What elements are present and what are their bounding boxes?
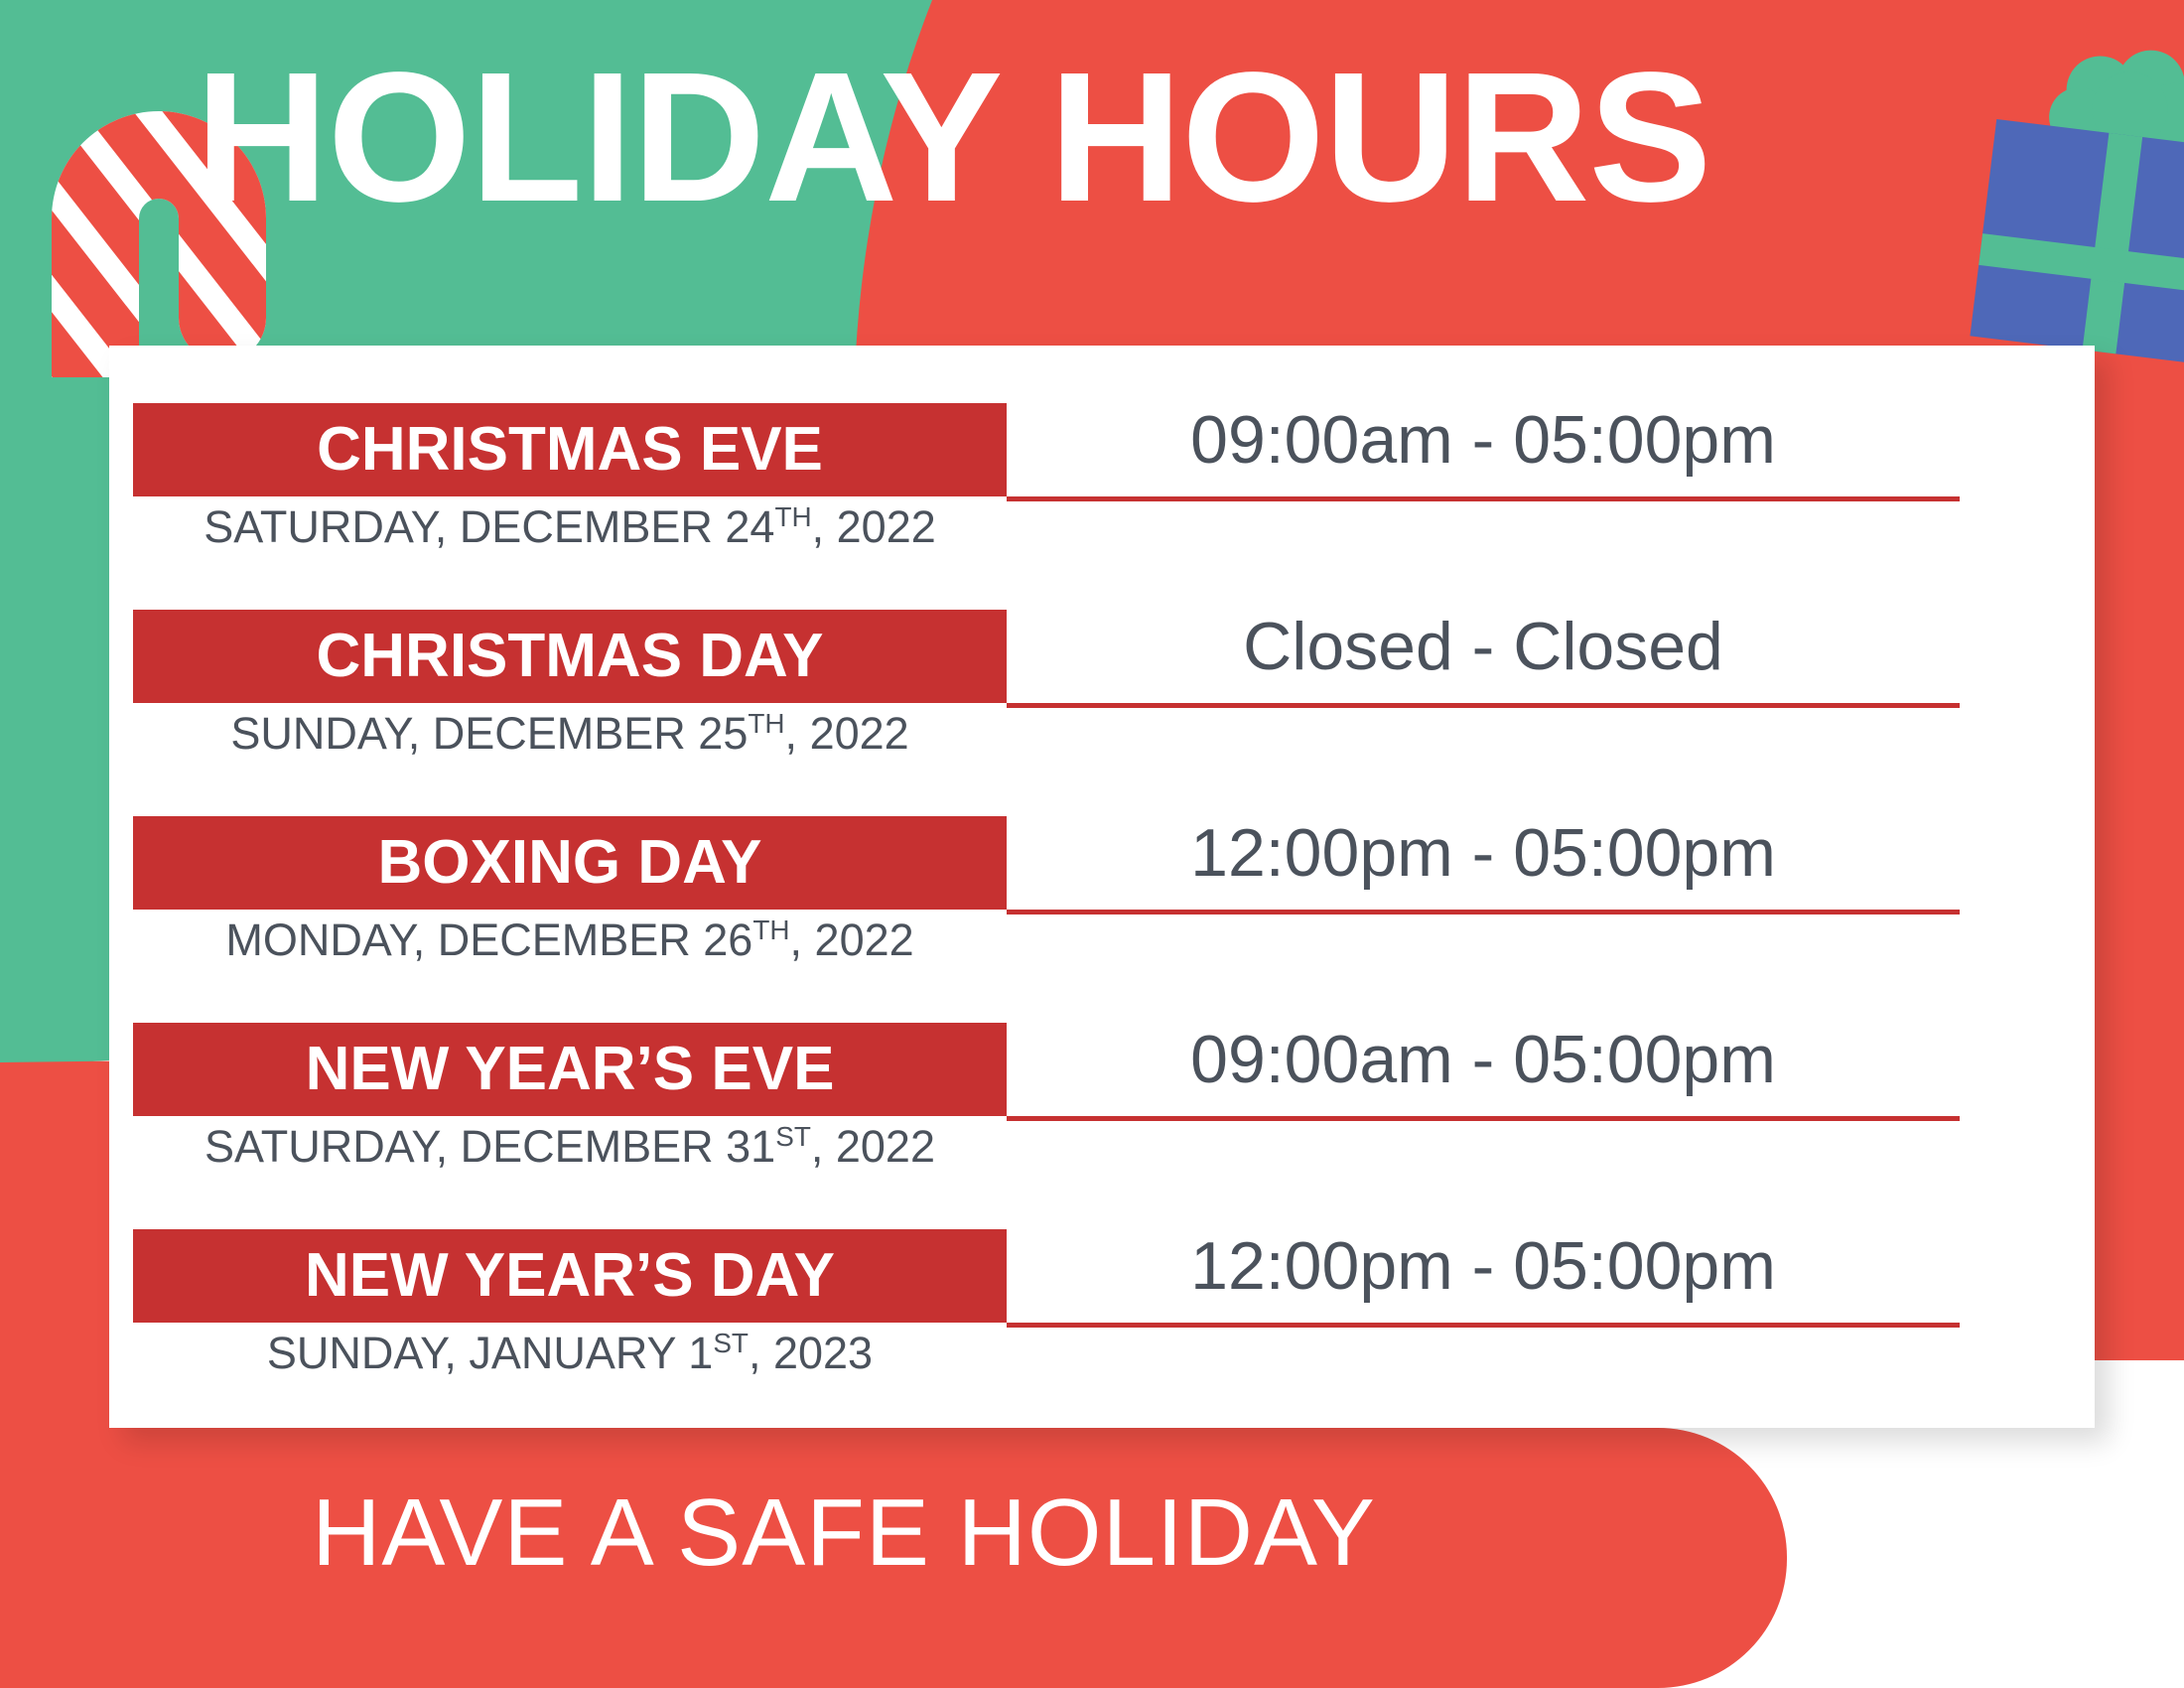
schedule-rows: CHRISTMAS EVE SATURDAY, DECEMBER 24TH, 2… (109, 346, 2095, 1428)
holiday-date-label: SATURDAY, DECEMBER 24TH, 2022 (133, 504, 1007, 549)
gift-box-icon (1953, 19, 2184, 369)
schedule-card: CHRISTMAS EVE SATURDAY, DECEMBER 24TH, 2… (109, 346, 2095, 1428)
holiday-hours-cell: 09:00am - 05:00pm (1007, 383, 1960, 501)
schedule-row: CHRISTMAS DAY SUNDAY, DECEMBER 25TH, 202… (109, 552, 2095, 759)
holiday-name-label: CHRISTMAS DAY (317, 626, 824, 687)
holiday-hours-cell: 12:00pm - 05:00pm (1007, 1209, 1960, 1328)
schedule-row: NEW YEAR’S EVE SATURDAY, DECEMBER 31ST, … (109, 965, 2095, 1172)
footer-message: HAVE A SAFE HOLIDAY (0, 1485, 1688, 1581)
holiday-date-label: SUNDAY, DECEMBER 25TH, 2022 (133, 711, 1007, 756)
date-suffix: ST (775, 1121, 811, 1152)
holiday-name-bar: NEW YEAR’S DAY (133, 1229, 1007, 1323)
date-weekday: SATURDAY, (205, 1121, 448, 1172)
holiday-date-label: SATURDAY, DECEMBER 31ST, 2022 (133, 1124, 1007, 1169)
date-day: 31 (726, 1121, 775, 1172)
date-weekday: SUNDAY, (267, 1328, 457, 1378)
holiday-name-bar: CHRISTMAS DAY (133, 610, 1007, 703)
schedule-row: CHRISTMAS EVE SATURDAY, DECEMBER 24TH, 2… (109, 346, 2095, 552)
schedule-row: NEW YEAR’S DAY SUNDAY, JANUARY 1ST, 2023… (109, 1172, 2095, 1378)
date-year: 2022 (836, 1121, 935, 1172)
holiday-name-bar: NEW YEAR’S EVE (133, 1023, 1007, 1116)
holiday-hours-label: 12:00pm - 05:00pm (1190, 819, 1776, 887)
date-month: DECEMBER (461, 1121, 714, 1172)
page-title: HOLIDAY HOURS (0, 46, 1906, 230)
date-suffix: TH (748, 708, 784, 739)
date-suffix: TH (774, 501, 811, 532)
date-day: 24 (725, 501, 774, 552)
holiday-name-label: CHRISTMAS EVE (317, 419, 823, 481)
holiday-hours-cell: Closed - Closed (1007, 590, 1960, 708)
holiday-hours-label: 09:00am - 05:00pm (1190, 1026, 1776, 1093)
date-suffix: ST (713, 1328, 749, 1358)
schedule-row: BOXING DAY MONDAY, DECEMBER 26TH, 2022 1… (109, 759, 2095, 965)
date-weekday: MONDAY, (225, 914, 425, 965)
holiday-name-bar: BOXING DAY (133, 816, 1007, 910)
holiday-hours-cell: 12:00pm - 05:00pm (1007, 796, 1960, 914)
holiday-name-label: NEW YEAR’S EVE (306, 1039, 835, 1100)
holiday-date-label: SUNDAY, JANUARY 1ST, 2023 (133, 1331, 1007, 1375)
holiday-hours-label: 12:00pm - 05:00pm (1190, 1232, 1776, 1300)
date-day: 26 (703, 914, 752, 965)
date-year: 2022 (815, 914, 914, 965)
holiday-hours-label: 09:00am - 05:00pm (1190, 406, 1776, 474)
date-year: 2022 (837, 501, 936, 552)
date-month: JANUARY (469, 1328, 675, 1378)
date-month: DECEMBER (438, 914, 691, 965)
holiday-name-label: NEW YEAR’S DAY (305, 1245, 835, 1307)
holiday-name-label: BOXING DAY (377, 832, 761, 894)
date-month: DECEMBER (433, 708, 686, 759)
holiday-name-bar: CHRISTMAS EVE (133, 403, 1007, 496)
date-year: 2023 (773, 1328, 873, 1378)
date-weekday: SATURDAY, (204, 501, 447, 552)
holiday-hours-label: Closed - Closed (1243, 613, 1723, 680)
date-day: 25 (698, 708, 748, 759)
date-suffix: TH (752, 914, 789, 945)
date-year: 2022 (810, 708, 909, 759)
holiday-hours-poster: HOLIDAY HOURS CHRISTMAS EVE SATURDAY, DE… (0, 0, 2184, 1688)
holiday-hours-cell: 09:00am - 05:00pm (1007, 1003, 1960, 1121)
date-weekday: SUNDAY, (230, 708, 420, 759)
date-day: 1 (688, 1328, 713, 1378)
holiday-date-label: MONDAY, DECEMBER 26TH, 2022 (133, 917, 1007, 962)
date-month: DECEMBER (460, 501, 713, 552)
